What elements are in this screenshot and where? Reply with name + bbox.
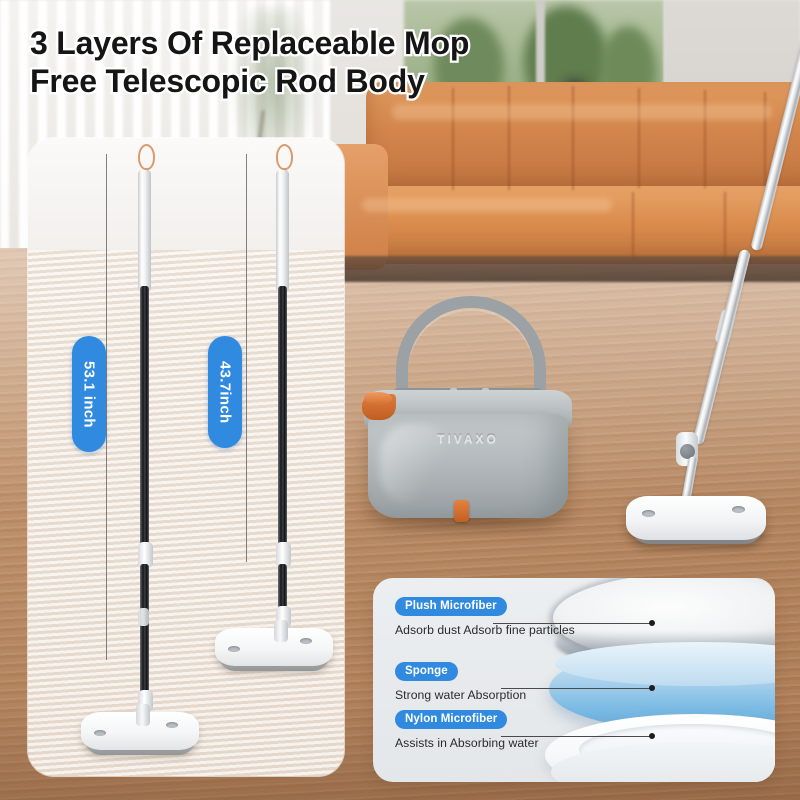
badge-length-extended: 53.1 inch <box>72 336 106 452</box>
mop-in-use <box>600 96 800 536</box>
bucket-spout-cap <box>364 392 392 405</box>
callout-desc-plush: Adsorb dust Adsorb fine particles <box>395 623 575 637</box>
mop-head-hole <box>166 722 178 728</box>
headline-line-1: 3 Layers Of Replaceable Mop <box>30 24 590 62</box>
hanging-loop-icon <box>138 144 155 170</box>
callout-desc-nylon: Assists in Absorbing water <box>395 736 539 750</box>
badge-length-retracted: 43.7inch <box>208 336 242 448</box>
callout-title-nylon: Nylon Microfiber <box>395 710 507 729</box>
headline-line-2: Free Telescopic Rod Body <box>30 62 590 100</box>
leader-dot-plush <box>649 620 655 626</box>
bucket-brand-logo: TIVAXO <box>408 432 528 446</box>
bucket-handle <box>396 296 546 400</box>
leader-dot-sponge <box>649 685 655 691</box>
pole-segment-dark-lower <box>278 564 287 612</box>
pole-lock-clip <box>138 608 149 626</box>
mop-bucket: TIVAXO <box>362 296 574 526</box>
pole-segment-dark-upper <box>140 286 149 548</box>
callout-nylon: Nylon Microfiber Assists in Absorbing wa… <box>395 709 539 750</box>
mop-head-connector <box>136 704 150 726</box>
panel-telescopic-comparison: 53.1 inch 43.7inch <box>28 138 344 776</box>
product-feature-image: TIVAXO <box>0 0 800 800</box>
bucket-drain-plug <box>454 500 469 522</box>
mop-head-hole <box>94 730 106 736</box>
mop-head-connector <box>274 620 288 642</box>
callout-title-sponge: Sponge <box>395 662 458 681</box>
hanging-loop-icon <box>276 144 293 170</box>
measure-line-left <box>106 154 107 660</box>
mop-head-right <box>626 496 766 540</box>
panel-layer-callouts: Plush Microfiber Adsorb dust Adsorb fine… <box>373 578 775 782</box>
panel-wall <box>28 138 344 256</box>
callout-title-plush: Plush Microfiber <box>395 597 507 616</box>
pole-segment-dark-lower <box>140 564 149 696</box>
panel-floor <box>28 250 344 776</box>
mop-pole-lower <box>692 249 751 446</box>
headline: 3 Layers Of Replaceable Mop Free Telesco… <box>30 24 590 100</box>
pole-segment-dark-upper <box>278 286 287 548</box>
callout-desc-sponge: Strong water Absorption <box>395 688 526 702</box>
callout-sponge: Sponge Strong water Absorption <box>395 661 526 702</box>
mop-head-hole <box>228 646 240 652</box>
leader-dot-nylon <box>649 733 655 739</box>
measure-line-right <box>246 154 247 562</box>
mop-head-hole <box>300 638 312 644</box>
pole-segment-white-top <box>138 170 151 292</box>
pole-segment-white-top <box>276 170 289 292</box>
callout-plush: Plush Microfiber Adsorb dust Adsorb fine… <box>395 596 575 637</box>
